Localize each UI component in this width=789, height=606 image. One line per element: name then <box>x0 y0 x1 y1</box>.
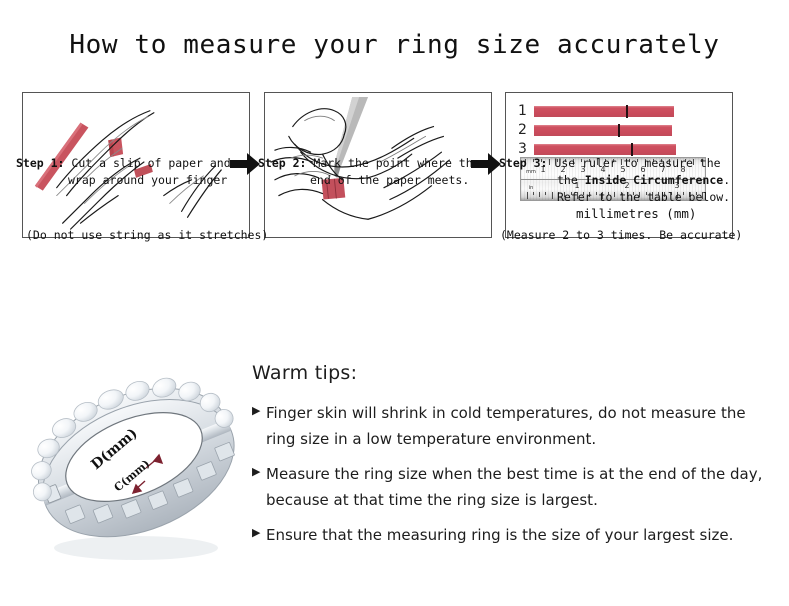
step-2-label: Step 2: <box>258 156 306 170</box>
millimetres-label: millimetres (mm) <box>576 206 696 221</box>
step-3-note: (Measure 2 to 3 times. Be accurate) <box>500 228 742 242</box>
ring-measurement-photo: D(mm) C(mm) <box>18 352 250 577</box>
steps-row: 1 2 3 <box>0 92 789 342</box>
paper-strip-1 <box>534 106 674 117</box>
step-1-note: (Do not use string as it stretches) <box>26 228 268 242</box>
step-2-line2: end of the paper meets. <box>258 172 508 189</box>
page-title: How to measure your ring size accurately <box>0 30 789 60</box>
step-3-line2-end: . <box>723 173 730 187</box>
step-2-line1: Mark the point where the <box>313 156 479 170</box>
step-3-line3: Refer to the table below. <box>499 189 749 206</box>
step-1-label: Step 1: <box>16 156 64 170</box>
tip-text-1: Finger skin will shrink in cold temperat… <box>266 400 772 452</box>
measured-strip-1: 1 <box>518 103 678 119</box>
step-1-caption: Step 1: Cut a slip of paper and wrap aro… <box>16 155 266 189</box>
strip-mark-2 <box>618 124 620 137</box>
step-3-line1: Use ruler to measure the <box>554 156 720 170</box>
tip-text-3: Ensure that the measuring ring is the si… <box>266 522 733 548</box>
strip-number-1: 1 <box>518 103 534 119</box>
tip-item: ▶ Measure the ring size when the best ti… <box>252 461 772 513</box>
step-3-caption: Step 3: Use ruler to measure the the Ins… <box>499 155 749 206</box>
step-3-line2-prefix: the <box>557 173 585 187</box>
paper-strip-2 <box>534 125 672 136</box>
tip-item: ▶ Ensure that the measuring ring is the … <box>252 522 772 548</box>
tip-item: ▶ Finger skin will shrink in cold temper… <box>252 400 772 452</box>
tip-text-2: Measure the ring size when the best time… <box>266 461 772 513</box>
step-1-line1: Cut a slip of paper and <box>71 156 230 170</box>
bullet-triangle-icon: ▶ <box>252 400 266 416</box>
strip-mark-3 <box>631 143 633 156</box>
step-3-inside-circumference: Inside Circumference <box>585 173 723 187</box>
paper-strip-3 <box>534 144 676 155</box>
bullet-triangle-icon: ▶ <box>252 461 266 477</box>
step-1-line2: wrap around your finger <box>16 172 266 189</box>
ring-diagram-svg: D(mm) C(mm) <box>18 352 250 577</box>
warm-tips-section: Warm tips: ▶ Finger skin will shrink in … <box>252 362 772 557</box>
step-2-caption: Step 2: Mark the point where the end of … <box>258 155 508 189</box>
step-3-label: Step 3: <box>499 156 547 170</box>
measured-strip-2: 2 <box>518 122 678 138</box>
warm-tips-heading: Warm tips: <box>252 362 772 384</box>
bullet-triangle-icon: ▶ <box>252 522 266 538</box>
strip-number-2: 2 <box>518 122 534 138</box>
strip-mark-1 <box>626 105 628 118</box>
